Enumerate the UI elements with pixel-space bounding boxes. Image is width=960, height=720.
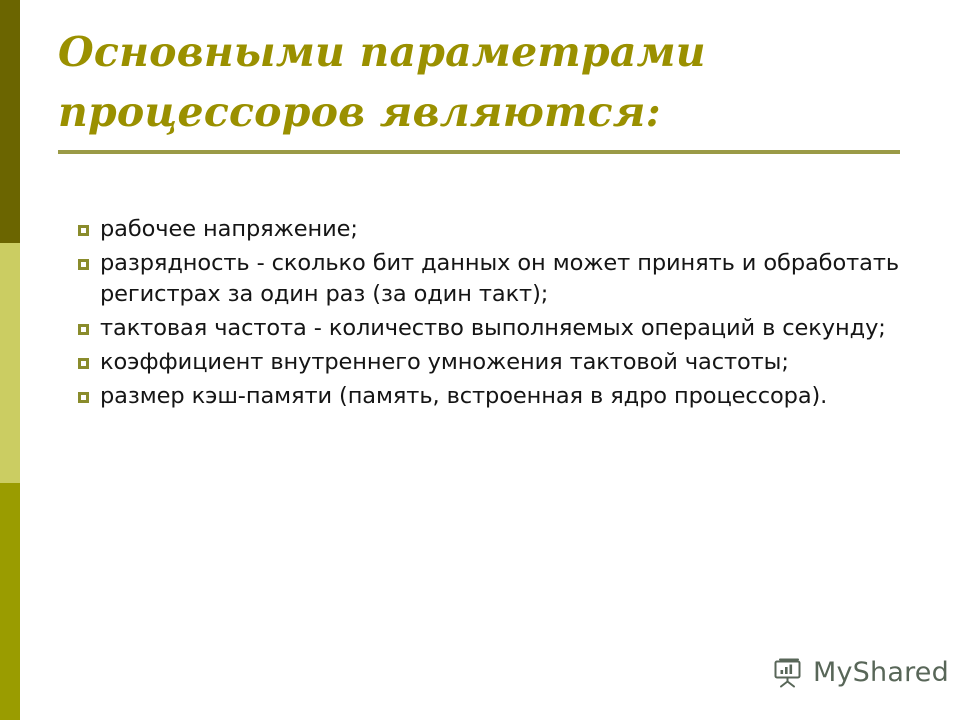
list-item: коэффициент внутреннего умножения тактов… bbox=[78, 347, 926, 378]
list-item-text: размер кэш-памяти (память, встроенная в … bbox=[100, 381, 926, 412]
sidebar-decoration bbox=[0, 0, 20, 720]
watermark: MyShared bbox=[771, 655, 949, 689]
hollow-square-bullet-icon bbox=[78, 259, 89, 270]
bullet-list: рабочее напряжение; разрядность - скольк… bbox=[78, 214, 926, 415]
list-item-text: разрядность - сколько бит данных он може… bbox=[100, 248, 926, 310]
hollow-square-bullet-icon bbox=[78, 358, 89, 369]
presentation-board-icon bbox=[771, 655, 805, 689]
title-divider bbox=[58, 150, 900, 154]
list-item: размер кэш-памяти (память, встроенная в … bbox=[78, 381, 926, 412]
list-item-text: коэффициент внутреннего умножения тактов… bbox=[100, 347, 926, 378]
sidebar-segment-middle bbox=[0, 243, 20, 483]
sidebar-segment-top bbox=[0, 0, 20, 243]
hollow-square-bullet-icon bbox=[78, 324, 89, 335]
list-item-text: тактовая частота - количество выполняемы… bbox=[100, 313, 926, 344]
list-item: тактовая частота - количество выполняемы… bbox=[78, 313, 926, 344]
slide-title-block: Основными параметрами процессоров являют… bbox=[58, 22, 918, 142]
hollow-square-bullet-icon bbox=[78, 392, 89, 403]
list-item-text: рабочее напряжение; bbox=[100, 214, 926, 245]
watermark-label: MyShared bbox=[813, 659, 949, 686]
slide-canvas: Основными параметрами процессоров являют… bbox=[0, 0, 960, 720]
list-item: рабочее напряжение; bbox=[78, 214, 926, 245]
hollow-square-bullet-icon bbox=[78, 225, 89, 236]
list-item: разрядность - сколько бит данных он може… bbox=[78, 248, 926, 310]
slide-title: Основными параметрами процессоров являют… bbox=[58, 22, 918, 142]
sidebar-segment-bottom bbox=[0, 483, 20, 720]
